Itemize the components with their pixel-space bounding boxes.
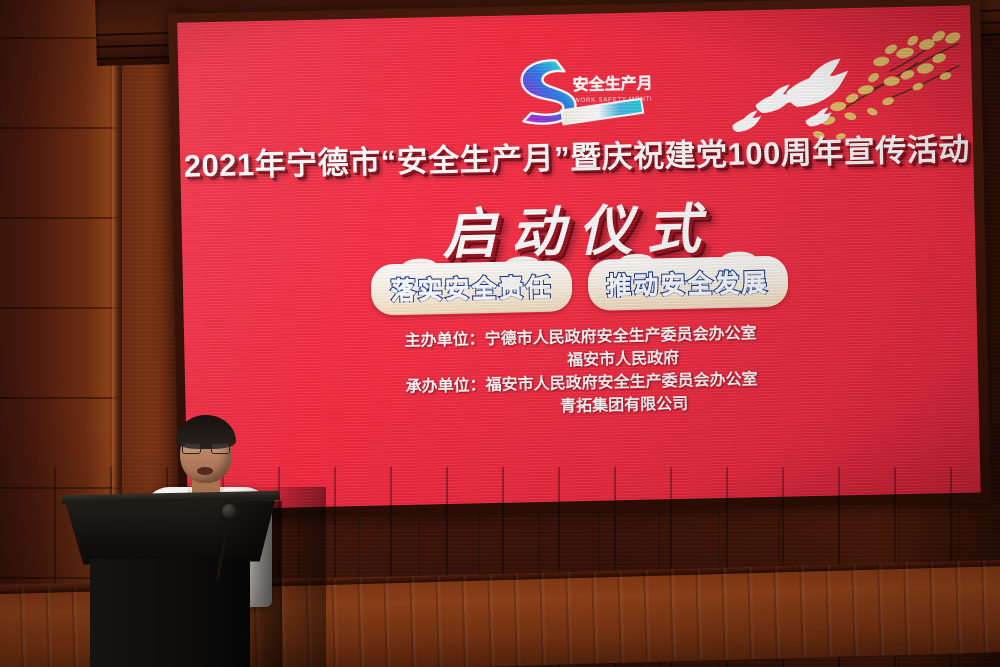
organizer-block: 主办单位：宁德市人民政府安全生产委员会办公室 福安市人民政府 承办单位：福安市人… <box>184 317 979 426</box>
organizer-value-2: 福安市人民政府 <box>567 350 679 369</box>
slogan-pill-2: 推动安全发展 <box>587 256 788 311</box>
headline-line-1: 2021年宁德市“安全生产月”暨庆祝建党100周年宣传活动 <box>183 124 970 186</box>
podium-shading <box>212 501 282 667</box>
podium <box>62 493 280 667</box>
slogan-pill-1: 落实安全责任 <box>371 260 572 315</box>
microphone-head-icon <box>222 504 236 518</box>
logo-svg: 安全生产月 WORK SAFETY MONTH <box>499 47 651 134</box>
stage-scene: 安全生产月 WORK SAFETY MONTH <box>0 0 1000 667</box>
organizer-label-1: 主办单位： <box>404 331 484 350</box>
work-safety-month-logo: 安全生产月 WORK SAFETY MONTH <box>499 47 651 134</box>
logo-cn-text: 安全生产月 <box>572 73 651 94</box>
glasses-icon <box>182 443 230 454</box>
speaker-mouth <box>197 467 213 475</box>
organizer-value-4: 青拓集团有限公司 <box>560 396 688 416</box>
organizer-value-3: 福安市人民政府安全生产委员会办公室 <box>485 371 757 394</box>
organizer-label-3: 承办单位： <box>406 377 486 396</box>
headline-block: 2021年宁德市“安全生产月”暨庆祝建党100周年宣传活动 启动仪式 <box>180 123 976 274</box>
organizer-value-1: 宁德市人民政府安全生产委员会办公室 <box>484 325 756 348</box>
